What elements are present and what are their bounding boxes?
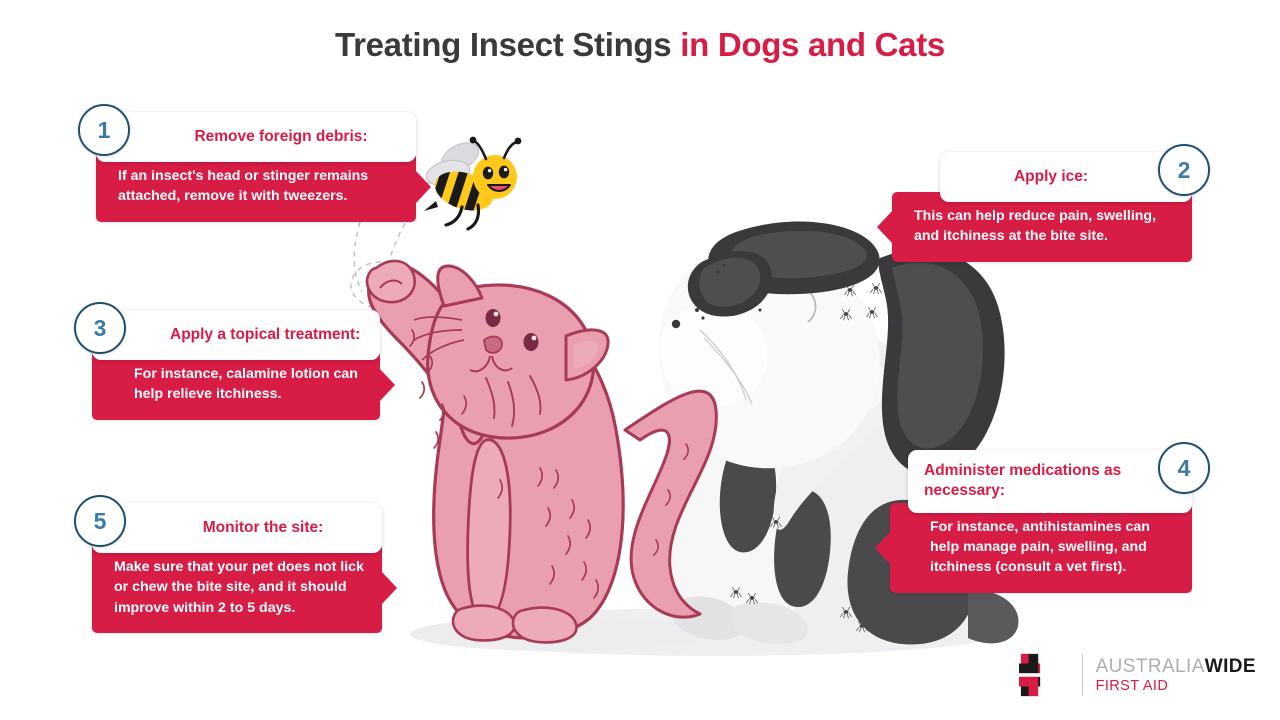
step-3-title: Apply a topical treatment: <box>170 325 364 345</box>
step-card-3[interactable]: 3 Apply a topical treatment: For instanc… <box>92 310 380 420</box>
step-card-1[interactable]: 1 Remove foreign debris: If an insect's … <box>96 112 416 222</box>
cat-illustration <box>367 261 716 642</box>
australia-wide-cross-mark-icon <box>1019 650 1069 700</box>
flea-marks <box>730 283 881 632</box>
step-card-5[interactable]: 5 Monitor the site: Make sure that your … <box>92 503 382 633</box>
step-3-body: For instance, calamine lotion can help r… <box>92 350 380 420</box>
step-3-header: 3 Apply a topical treatment: <box>92 310 380 360</box>
step-card-2[interactable]: 2 Apply ice: This can help reduce pain, … <box>892 152 1192 262</box>
page-title: Treating Insect Stings in Dogs and Cats <box>0 26 1280 64</box>
step-4-title: Administer medications as necessary: <box>924 461 1140 501</box>
dog-nose <box>672 320 680 328</box>
step-5-number-badge: 5 <box>74 495 126 547</box>
step-1-number-badge: 1 <box>78 104 130 156</box>
dog-eye <box>813 262 822 273</box>
step-card-4[interactable]: 4 Administer medications as necessary: F… <box>890 450 1192 593</box>
step-2-title: Apply ice: <box>956 167 1146 187</box>
page-title-part1: Treating Insect Stings <box>335 26 680 63</box>
bee-icon <box>424 137 521 229</box>
brand-logo[interactable]: AUSTRALIAWIDE FIRST AID <box>1019 650 1256 700</box>
step-2-number-badge: 2 <box>1158 144 1210 196</box>
step-5-body: Make sure that your pet does not lick or… <box>92 543 382 633</box>
step-2-header: 2 Apply ice: <box>940 152 1192 202</box>
infographic-canvas: Treating Insect Stings in Dogs and Cats <box>0 0 1280 720</box>
step-3-number-badge: 3 <box>74 302 126 354</box>
step-5-title: Monitor the site: <box>170 518 366 538</box>
step-5-header: 5 Monitor the site: <box>92 503 382 553</box>
logo-line2: FIRST AID <box>1096 678 1256 694</box>
step-1-title: Remove foreign debris: <box>168 127 400 147</box>
cat-eye-left <box>486 309 501 327</box>
logo-line1-bold: WIDE <box>1205 656 1256 677</box>
step-1-header: 1 Remove foreign debris: <box>96 112 416 162</box>
cat-eye-right <box>524 333 539 351</box>
page-title-part2: in Dogs and Cats <box>680 26 945 63</box>
logo-wordmark: AUSTRALIAWIDE FIRST AID <box>1096 656 1256 694</box>
step-4-number-badge: 4 <box>1158 442 1210 494</box>
ground-shadow <box>425 608 1005 656</box>
logo-divider <box>1082 654 1083 696</box>
step-4-body: For instance, antihistamines can help ma… <box>890 503 1192 593</box>
step-1-body: If an insect's head or stinger remains a… <box>96 152 416 222</box>
logo-line1-light: AUSTRALIA <box>1096 656 1205 677</box>
step-2-body: This can help reduce pain, swelling, and… <box>892 192 1192 262</box>
step-4-header: 4 Administer medications as necessary: <box>908 450 1192 513</box>
